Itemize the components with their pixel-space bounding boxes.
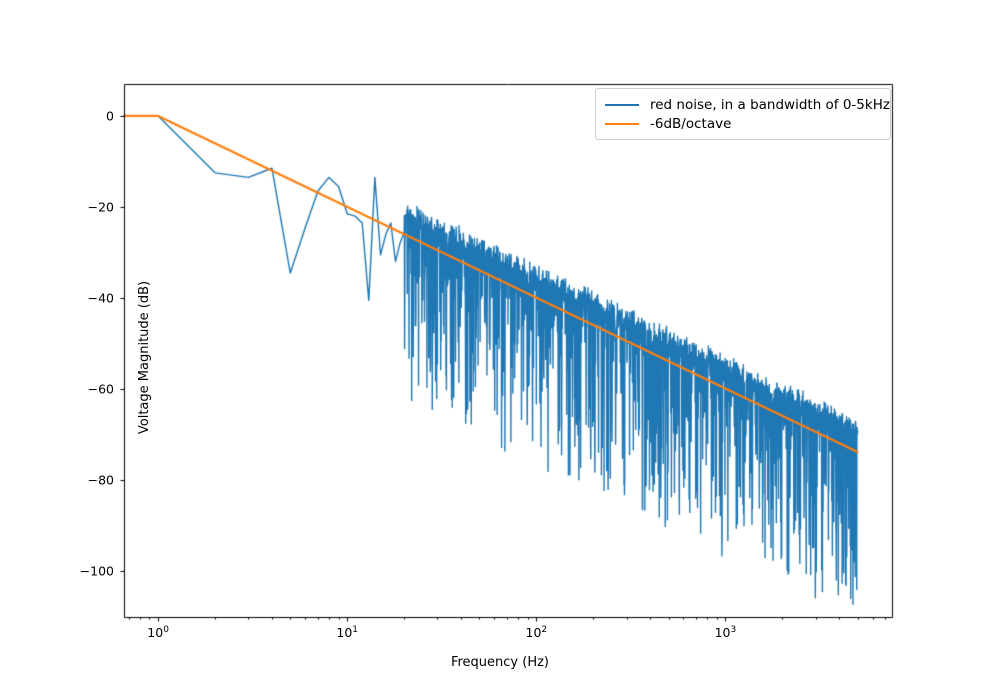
- figure-canvas-container: Frequency (Hz) Voltage Magnitude (dB) re…: [0, 0, 1000, 700]
- legend-label-red-noise: red noise, in a bandwidth of 0-5kHz: [650, 97, 890, 113]
- y-axis-label: Voltage Magnitude (dB): [137, 281, 152, 434]
- legend-box: red noise, in a bandwidth of 0-5kHz -6dB…: [595, 88, 891, 140]
- legend-label-slope: -6dB/octave: [650, 116, 731, 132]
- legend-entry-slope: -6dB/octave: [605, 114, 881, 133]
- legend-line-swatch-red-noise: [605, 104, 639, 106]
- x-tick-label: 101: [336, 625, 358, 640]
- y-tick-label: −40: [60, 291, 114, 306]
- y-tick-label: −100: [60, 564, 114, 579]
- legend-line-swatch-slope: [605, 123, 639, 125]
- legend-entry-red-noise: red noise, in a bandwidth of 0-5kHz: [605, 95, 881, 114]
- y-tick-label: −20: [60, 200, 114, 215]
- y-tick-label: 0: [60, 108, 114, 123]
- y-tick-label: −80: [60, 473, 114, 488]
- x-axis-label: Frequency (Hz): [0, 655, 1000, 670]
- x-tick-label: 102: [526, 625, 548, 640]
- y-tick-label: −60: [60, 382, 114, 397]
- x-tick-label: 100: [147, 625, 169, 640]
- x-tick-label: 103: [715, 625, 737, 640]
